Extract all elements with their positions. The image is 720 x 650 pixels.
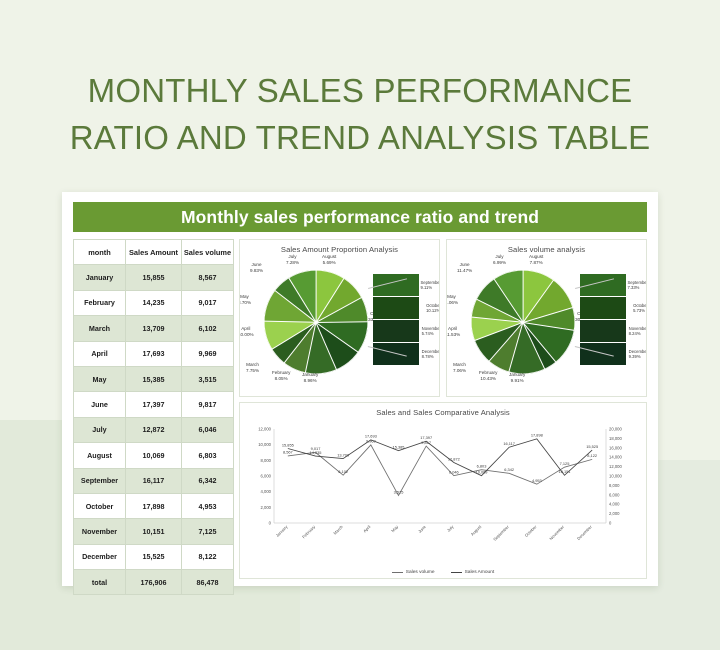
amount-cell: 15,525 (126, 544, 182, 569)
amount-cell: 12,872 (126, 417, 182, 442)
amount-cell: 10,069 (126, 443, 182, 468)
pie-label-january: January8.96% (302, 372, 318, 383)
pie-label-february: February10.43% (479, 370, 497, 381)
svg-text:17,693: 17,693 (365, 434, 377, 439)
svg-text:April: April (362, 524, 371, 533)
svg-text:6,342: 6,342 (504, 467, 514, 472)
line-chart-svg: 02,0004,0006,0008,00010,00012,00002,0004… (240, 417, 646, 569)
breakout-segment-december: December9.39% (580, 343, 626, 366)
svg-text:January: January (275, 524, 290, 539)
table-row: January15,8558,567 (74, 265, 234, 290)
svg-text:December: December (576, 524, 593, 541)
breakout-label: December9.39% (629, 349, 647, 359)
amount-cell: 10,151 (126, 519, 182, 544)
pie-label-april: April11.53% (446, 326, 460, 337)
line-chart-legend: Sales volumeSales Amount (240, 570, 646, 575)
dashboard-card: Monthly sales performance ratio and tren… (62, 192, 658, 586)
legend-label: Sales volume (406, 570, 435, 575)
table-header-row: month Sales Amount Sales volume (74, 240, 234, 265)
breakout-label: November8.24% (629, 326, 647, 336)
svg-text:10,000: 10,000 (258, 442, 271, 447)
breakout-label: September7.33% (628, 280, 647, 290)
breakout-segment-october: October10.12% (373, 297, 419, 320)
svg-text:8,000: 8,000 (261, 458, 272, 463)
pie-label-june: June9.83% (250, 262, 263, 273)
pie-charts-row: Sales Amount Proportion Analysis January… (239, 239, 647, 397)
pie-slice-divider (523, 270, 524, 322)
legend-item: Sales Amount (451, 570, 495, 575)
table-row: October17,8984,953 (74, 493, 234, 518)
svg-text:7,125: 7,125 (560, 461, 570, 466)
amount-cell: 13,709 (126, 316, 182, 341)
volume-cell: 6,102 (182, 316, 234, 341)
col-header-volume: Sales volume (182, 240, 234, 265)
svg-text:0: 0 (269, 521, 272, 526)
line-chart-stage: 02,0004,0006,0008,00010,00012,00002,0004… (240, 417, 646, 569)
table-body: January15,8558,567February14,2359,017Mar… (74, 265, 234, 595)
svg-text:6,046: 6,046 (449, 469, 459, 474)
month-cell: February (74, 290, 126, 315)
pie-label-january: January9.91% (509, 372, 525, 383)
volume-cell: 9,969 (182, 341, 234, 366)
volume-cell: 8,567 (182, 265, 234, 290)
pie-label-august: August5.69% (322, 254, 336, 265)
volume-cell: 6,046 (182, 417, 234, 442)
svg-text:16,000: 16,000 (609, 445, 622, 450)
month-cell: March (74, 316, 126, 341)
volume-cell: 3,515 (182, 366, 234, 391)
pie-label-august: August7.87% (529, 254, 543, 265)
month-cell: December (74, 544, 126, 569)
legend-item: Sales volume (392, 570, 435, 575)
svg-text:16,117: 16,117 (503, 441, 515, 446)
pie-slice-divider (316, 270, 317, 322)
svg-text:10,069: 10,069 (476, 469, 488, 474)
pie-volume-title: Sales volume analysis (447, 240, 646, 254)
sales-table: month Sales Amount Sales volume January1… (73, 239, 234, 595)
pie-label-may: May8.70% (239, 294, 251, 305)
month-cell: July (74, 417, 126, 442)
svg-text:6,102: 6,102 (338, 469, 348, 474)
legend-label: Sales Amount (465, 570, 495, 575)
breakout-label: September9.11% (421, 280, 440, 290)
svg-text:6,803: 6,803 (477, 464, 487, 469)
pie-amount-stage: January8.96%February8.05%March7.75%April… (240, 254, 439, 388)
svg-text:0: 0 (609, 521, 612, 526)
svg-text:May: May (390, 523, 400, 533)
svg-text:14,235: 14,235 (310, 450, 322, 455)
svg-text:2,000: 2,000 (609, 511, 620, 516)
volume-cell: 9,017 (182, 290, 234, 315)
pie-label-march: March7.06% (453, 362, 466, 373)
volume-cell: 6,803 (182, 443, 234, 468)
legend-swatch (451, 572, 462, 573)
pie-label-may: May4.06% (446, 294, 458, 305)
sales-table-wrapper: month Sales Amount Sales volume January1… (73, 239, 233, 579)
svg-text:October: October (524, 524, 538, 538)
breakout-segment-november: November8.24% (580, 320, 626, 343)
line-chart-comparative: Sales and Sales Comparative Analysis 02,… (239, 402, 647, 579)
svg-text:12,000: 12,000 (258, 427, 271, 432)
pie-chart-sales-amount: Sales Amount Proportion Analysis January… (239, 239, 440, 397)
charts-pane: Sales Amount Proportion Analysis January… (239, 239, 647, 579)
svg-text:4,000: 4,000 (261, 489, 272, 494)
month-cell: October (74, 493, 126, 518)
total-label-cell: total (74, 570, 126, 595)
svg-text:4,000: 4,000 (609, 502, 620, 507)
pie-volume-stage: January9.91%February10.43%March7.06%Apri… (447, 254, 646, 388)
pie-label-february: February8.05% (272, 370, 290, 381)
svg-text:4,953: 4,953 (532, 478, 542, 483)
svg-text:2,000: 2,000 (261, 505, 272, 510)
amount-cell: 17,693 (126, 341, 182, 366)
pie-chart-sales-volume: Sales volume analysis January9.91%Februa… (446, 239, 647, 397)
amount-cell: 15,855 (126, 265, 182, 290)
amount-cell: 16,117 (126, 468, 182, 493)
breakout-label: October5.73% (633, 303, 647, 313)
volume-cell: 6,342 (182, 468, 234, 493)
volume-cell: 4,953 (182, 493, 234, 518)
svg-text:14,000: 14,000 (609, 455, 622, 460)
month-cell: November (74, 519, 126, 544)
amount-cell: 17,397 (126, 392, 182, 417)
amount-cell: 15,385 (126, 366, 182, 391)
page-title: MONTHLY SALES PERFORMANCE RATIO AND TREN… (0, 68, 720, 162)
svg-text:15,855: 15,855 (282, 442, 294, 447)
svg-text:September: September (492, 524, 510, 542)
month-cell: April (74, 341, 126, 366)
volume-cell: 7,125 (182, 519, 234, 544)
svg-text:20,000: 20,000 (609, 427, 622, 432)
svg-text:February: February (301, 524, 317, 540)
table-row: August10,0696,803 (74, 443, 234, 468)
dashboard-banner: Monthly sales performance ratio and tren… (73, 202, 647, 232)
amount-cell: 14,235 (126, 290, 182, 315)
line-chart-title: Sales and Sales Comparative Analysis (240, 403, 646, 417)
breakout-label: December8.78% (422, 349, 440, 359)
table-row: February14,2359,017 (74, 290, 234, 315)
volume-cell: 9,817 (182, 392, 234, 417)
svg-text:17,898: 17,898 (531, 433, 543, 438)
page-title-line-1: MONTHLY SALES PERFORMANCE (0, 68, 720, 115)
svg-text:July: July (446, 523, 455, 532)
table-total-row: total176,90686,478 (74, 570, 234, 595)
breakout-segment-december: December8.78% (373, 343, 419, 366)
pie-label-june: June11.47% (457, 262, 472, 273)
breakout-segment-november: November5.74% (373, 320, 419, 343)
month-cell: June (74, 392, 126, 417)
total-amount-cell: 176,906 (126, 570, 182, 595)
svg-text:November: November (548, 524, 565, 541)
pie-label-july: July7.28% (286, 254, 299, 265)
svg-text:8,000: 8,000 (609, 483, 620, 488)
svg-text:8,122: 8,122 (587, 453, 597, 458)
month-cell: January (74, 265, 126, 290)
poster-root: MONTHLY SALES PERFORMANCE RATIO AND TREN… (0, 0, 720, 650)
svg-text:6,000: 6,000 (261, 474, 272, 479)
svg-text:10,151: 10,151 (559, 469, 571, 474)
pie-label-april: April10.00% (239, 326, 254, 337)
svg-text:March: March (332, 524, 344, 536)
col-header-amount: Sales Amount (126, 240, 182, 265)
breakout-segment-october: October5.73% (580, 297, 626, 320)
svg-text:August: August (470, 524, 483, 537)
table-row: July12,8726,046 (74, 417, 234, 442)
pie-label-july: July6.99% (493, 254, 506, 265)
table-row: September16,1176,342 (74, 468, 234, 493)
breakout-label: October10.12% (426, 303, 440, 313)
legend-swatch (392, 572, 403, 573)
month-cell: September (74, 468, 126, 493)
pie-amount-title: Sales Amount Proportion Analysis (240, 240, 439, 254)
svg-text:8,567: 8,567 (283, 450, 293, 455)
svg-text:18,000: 18,000 (609, 436, 622, 441)
table-row: December15,5258,122 (74, 544, 234, 569)
svg-text:17,397: 17,397 (420, 435, 432, 440)
amount-cell: 17,898 (126, 493, 182, 518)
table-row: November10,1517,125 (74, 519, 234, 544)
breakout-label: November5.74% (422, 326, 440, 336)
svg-text:13,709: 13,709 (337, 452, 349, 457)
month-cell: May (74, 366, 126, 391)
svg-text:3,515: 3,515 (394, 489, 404, 494)
svg-text:10,000: 10,000 (609, 474, 622, 479)
svg-text:6,000: 6,000 (609, 492, 620, 497)
month-cell: August (74, 443, 126, 468)
svg-text:June: June (417, 524, 427, 534)
svg-text:12,000: 12,000 (609, 464, 622, 469)
svg-text:12,872: 12,872 (448, 456, 460, 461)
svg-text:15,525: 15,525 (586, 444, 598, 449)
pie-label-march: March7.75% (246, 362, 259, 373)
svg-text:15,385: 15,385 (393, 444, 405, 449)
line-series-sales-amount (288, 439, 592, 476)
total-volume-cell: 86,478 (182, 570, 234, 595)
volume-cell: 8,122 (182, 544, 234, 569)
col-header-month: month (74, 240, 126, 265)
table-row: April17,6939,969 (74, 341, 234, 366)
line-series-sales-volume (288, 445, 592, 496)
table-row: May15,3853,515 (74, 366, 234, 391)
table-row: June17,3979,817 (74, 392, 234, 417)
dashboard-body: month Sales Amount Sales volume January1… (73, 239, 647, 579)
table-row: March13,7096,102 (74, 316, 234, 341)
page-title-line-2: RATIO AND TREND ANALYSIS TABLE (0, 115, 720, 162)
